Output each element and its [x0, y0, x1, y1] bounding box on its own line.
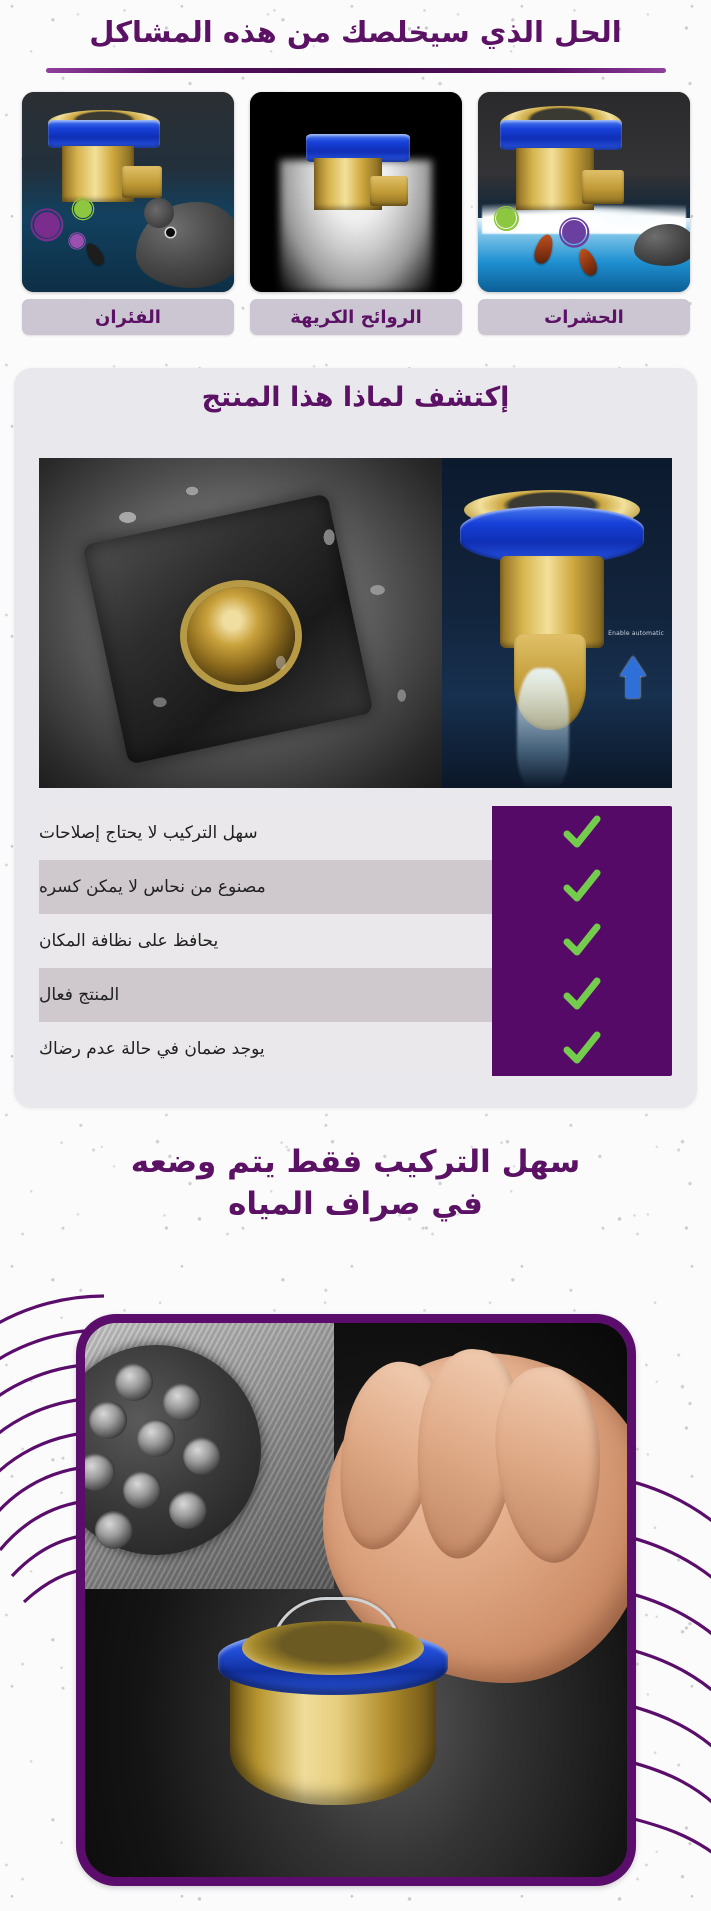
check-icon	[562, 867, 602, 907]
valve-blue-ring	[48, 120, 160, 148]
problem-label-row: الحشرات الروائح الكريهة الفئران	[22, 299, 690, 335]
problem-card-odor	[250, 92, 462, 292]
installed-drain-image	[39, 458, 442, 788]
germ-icon	[74, 200, 92, 218]
check-cell	[492, 968, 672, 1022]
page-root: الحل الذي سيخلصك من هذه المشاكل	[0, 0, 711, 1911]
plug-opening	[242, 1621, 424, 1675]
rodent-illustration	[22, 92, 234, 292]
check-cell	[492, 860, 672, 914]
insects-illustration	[478, 92, 690, 292]
check-column	[492, 806, 672, 1076]
water-stream	[517, 668, 569, 788]
problem-label-insects: الحشرات	[478, 299, 690, 335]
rat-eye	[166, 228, 175, 237]
odor-smoke-illustration	[250, 92, 462, 292]
strainer-hole	[77, 1453, 115, 1491]
germ-icon	[70, 234, 84, 248]
strainer-hole	[137, 1419, 175, 1457]
up-arrow-icon	[620, 656, 646, 676]
strainer-hole	[95, 1511, 133, 1549]
check-icon	[562, 813, 602, 853]
valve-water-image: Enable automatic	[442, 458, 672, 788]
strainer-hole	[123, 1471, 161, 1509]
why-product-panel: إكتشف لماذا هذا المنتج Enable automatic	[14, 368, 697, 1108]
title-divider	[46, 68, 666, 73]
rat-ear	[144, 198, 174, 228]
problem-label-odor: الروائح الكريهة	[250, 299, 462, 335]
finger	[490, 1364, 607, 1567]
feature-row: يحافظ على نظافة المكان	[39, 914, 492, 968]
product-image-pair: Enable automatic	[39, 458, 672, 788]
install-title: سهل التركيب فقط يتم وضعه في صراف المياه	[0, 1142, 711, 1225]
feature-row: يوجد ضمان في حالة عدم رضاك	[39, 1022, 492, 1076]
drain-brass-hole	[187, 587, 295, 685]
germ-icon	[562, 220, 586, 244]
check-icon	[562, 1029, 602, 1069]
check-cell	[492, 806, 672, 860]
install-photo	[76, 1314, 636, 1886]
valve-arm	[582, 170, 624, 204]
check-cell	[492, 914, 672, 968]
germ-icon	[496, 208, 516, 228]
problem-card-insects	[478, 92, 690, 292]
problem-image-row	[22, 92, 690, 292]
why-panel-title: إكتشف لماذا هذا المنتج	[14, 382, 697, 413]
feature-row: سهل التركيب لا يحتاج إصلاحات	[39, 806, 492, 860]
feature-row: المنتج فعال	[39, 968, 492, 1022]
germ-icon	[34, 212, 60, 238]
problem-label-rodents: الفئران	[22, 299, 234, 335]
feature-row: مصنوع من نحاس لا يمكن كسره	[39, 860, 492, 914]
drain-plate	[83, 494, 374, 765]
strainer-hole	[115, 1363, 153, 1401]
page-title: الحل الذي سيخلصك من هذه المشاكل	[0, 14, 711, 50]
insect-icon	[83, 240, 107, 267]
strainer-hole	[183, 1437, 221, 1475]
problem-card-rodents	[22, 92, 234, 292]
feature-list: سهل التركيب لا يحتاج إصلاحات مصنوع من نح…	[39, 806, 672, 1076]
strainer-hole	[89, 1401, 127, 1439]
valve-arm	[370, 176, 408, 206]
valve-arm	[122, 166, 162, 198]
image-caption: Enable automatic	[608, 630, 664, 637]
feature-rows: سهل التركيب لا يحتاج إصلاحات مصنوع من نح…	[39, 806, 492, 1076]
strainer-hole	[163, 1383, 201, 1421]
valve-blue-ring	[500, 120, 622, 150]
install-title-line1: سهل التركيب فقط يتم وضعه	[0, 1142, 711, 1184]
drain-plug-product	[212, 1611, 456, 1821]
check-cell	[492, 1022, 672, 1076]
check-icon	[562, 975, 602, 1015]
install-title-line2: في صراف المياه	[0, 1184, 711, 1226]
check-icon	[562, 921, 602, 961]
strainer-hole	[169, 1491, 207, 1529]
rat-icon	[136, 202, 234, 288]
